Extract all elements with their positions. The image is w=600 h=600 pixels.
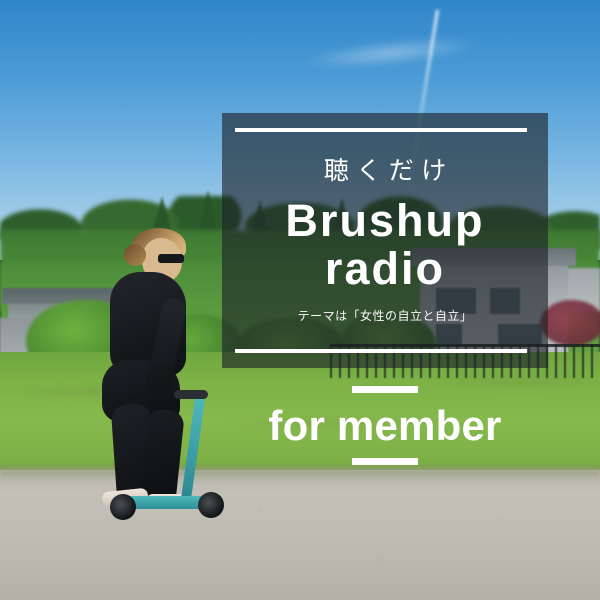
scooter-wheel-front [198,492,224,518]
panel-kicker: 聴くだけ [316,159,454,184]
sunglasses [158,254,184,263]
member-badge: for member [222,386,548,465]
scooter-handlebar [174,390,208,399]
brand-title-line1: Brushup [285,197,484,245]
panel-rule-bottom [235,349,527,353]
poster: 聴くだけ Brushup radio テーマは「女性の自立と自立」 for me… [0,0,600,600]
panel-rule-top [235,128,527,132]
title-panel: 聴くだけ Brushup radio テーマは「女性の自立と自立」 [222,113,548,368]
brand-title-line2: radio [325,245,445,293]
member-bar-top [352,386,418,393]
panel-subtitle: テーマは「女性の自立と自立」 [298,307,473,324]
member-bar-bottom [352,458,418,465]
scooter-stem [181,396,206,502]
scooter-wheel-rear [110,494,136,520]
panel-content: 聴くだけ Brushup radio テーマは「女性の自立と自立」 [222,141,548,342]
hair-bun [124,244,146,266]
red-shrub [540,300,600,346]
concrete-path [0,470,600,600]
member-label: for member [268,405,501,447]
